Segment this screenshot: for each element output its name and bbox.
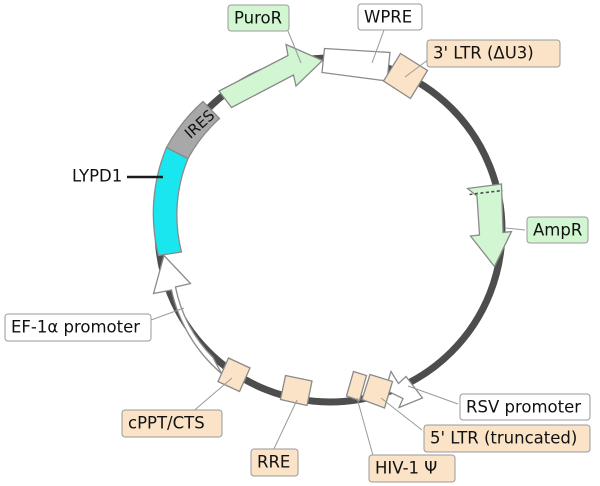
label-lypd1[interactable]: LYPD1 [72,167,122,186]
label-ampr-text: AmpR [533,221,582,240]
label-cppt-cts[interactable]: cPPT/CTS [122,410,222,437]
label-3ltr-text: 3' LTR (ΔU3) [433,44,534,63]
label-lypd1-text: LYPD1 [72,167,122,186]
label-cppt-text: cPPT/CTS [128,414,205,433]
label-rre-text: RRE [257,453,290,472]
puror-arrow[interactable] [219,45,323,108]
label-5ltr[interactable]: 5' LTR (truncated) [424,425,590,452]
label-rsv-text: RSV promoter [466,398,581,417]
label-wpre-text: WPRE [364,8,412,27]
leader-hiv1psi [357,398,374,459]
lypd1-arc-band[interactable] [153,148,188,256]
label-rre[interactable]: RRE [251,449,298,476]
ef1a-promoter-arrow[interactable] [154,256,222,374]
label-puror[interactable]: PuroR [228,5,289,31]
label-ef1a-text: EF-1α promoter [11,318,140,337]
feature-wpre[interactable] [322,49,390,82]
label-wpre[interactable]: WPRE [358,4,422,30]
label-5ltr-text: 5' LTR (truncated) [430,429,577,448]
feature-ires[interactable]: IRES [167,102,220,159]
label-ef1a-promoter[interactable]: EF-1α promoter [5,314,151,341]
label-ampr[interactable]: AmpR [527,217,588,243]
label-hiv1psi-text: HIV-1 Ψ [375,459,437,478]
leader-ampr [505,228,525,230]
label-rsv-promoter[interactable]: RSV promoter [460,394,590,420]
leader-rre [272,400,297,453]
wpre-box[interactable] [322,49,390,82]
feature-3ltr[interactable] [384,54,428,99]
feature-puror[interactable] [219,45,323,108]
feature-lypd1[interactable] [153,148,188,256]
leader-cppt [190,378,232,414]
label-puror-text: PuroR [234,9,282,28]
label-hiv1-psi[interactable]: HIV-1 Ψ [369,455,455,482]
feature-ef1a-promoter[interactable] [154,256,222,374]
label-3ltr[interactable]: 3' LTR (ΔU3) [427,40,560,67]
3ltr-box[interactable] [384,54,428,99]
plasmid-map-canvas: IRES [0,0,600,486]
